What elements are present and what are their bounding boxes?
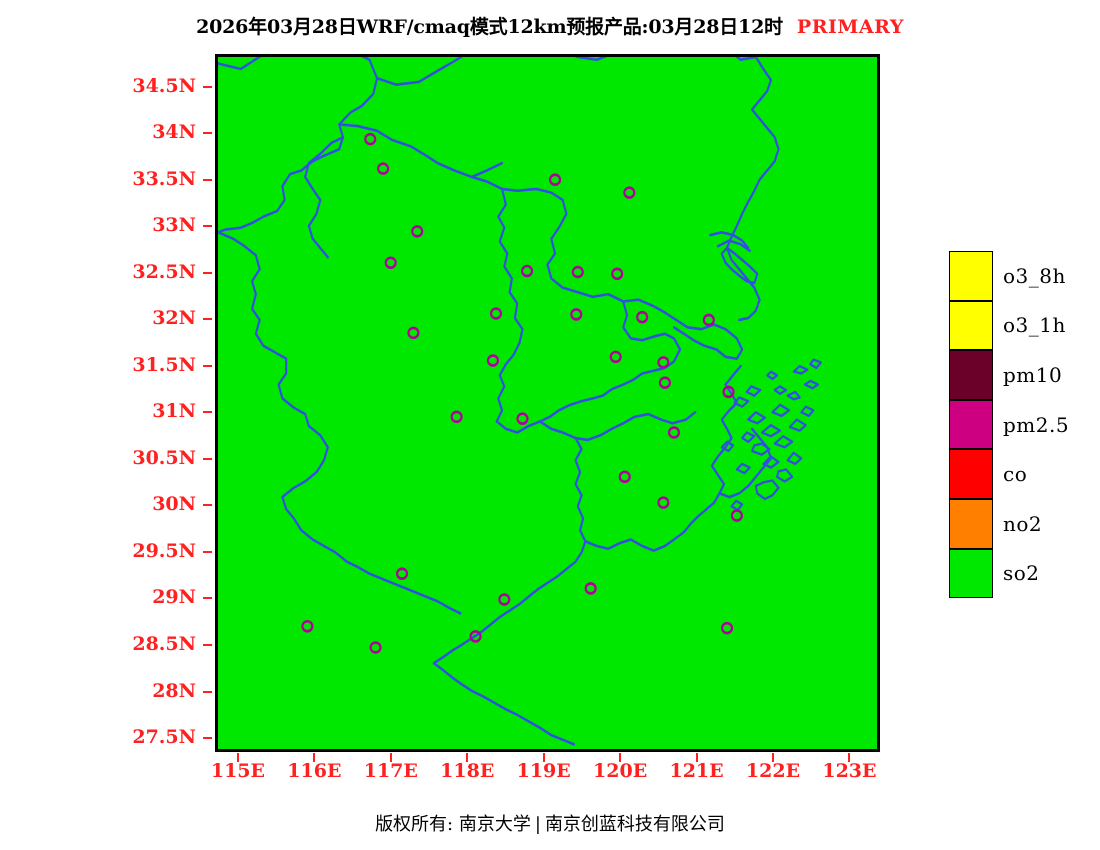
- y-axis-tick-label: 31.5N: [0, 354, 196, 376]
- station-marker[interactable]: [499, 595, 509, 605]
- x-axis-tick: [390, 753, 392, 762]
- x-axis-tick: [772, 753, 774, 762]
- station-marker[interactable]: [412, 226, 422, 236]
- legend-color-swatch: [949, 400, 993, 450]
- station-marker[interactable]: [660, 378, 670, 388]
- legend-item-no2[interactable]: no2: [949, 499, 993, 549]
- legend-item-label: so2: [1003, 561, 1040, 585]
- station-marker[interactable]: [522, 266, 532, 276]
- station-marker[interactable]: [518, 414, 528, 424]
- legend-item-label: o3_8h: [1003, 264, 1066, 288]
- y-axis-tick: [203, 86, 212, 88]
- footer-owner: 版权所有: 南京大学: [375, 814, 531, 835]
- y-axis-tick-label: 27.5N: [0, 726, 196, 748]
- legend-item-label: pm2.5: [1003, 413, 1069, 437]
- pollutant-legend[interactable]: o3_8ho3_1hpm10pm2.5cono2so2: [949, 251, 993, 598]
- legend-color-swatch: [949, 449, 993, 499]
- station-marker[interactable]: [620, 472, 630, 482]
- station-marker[interactable]: [550, 175, 560, 185]
- copyright-footer: 版权所有: 南京大学|南京创蓝科技有限公司: [0, 810, 1100, 836]
- legend-color-swatch: [949, 549, 993, 599]
- station-marker[interactable]: [573, 267, 583, 277]
- legend-item-co[interactable]: co: [949, 449, 993, 499]
- station-marker-group: [302, 134, 741, 652]
- station-marker[interactable]: [491, 309, 501, 319]
- station-marker[interactable]: [669, 428, 679, 438]
- x-axis-tick: [848, 753, 850, 762]
- station-marker[interactable]: [408, 328, 418, 338]
- map-boundaries: [218, 57, 779, 744]
- x-axis-tick-label: 121E: [667, 760, 727, 782]
- title-main-text: 2026年03月28日WRF/cmaq模式12km预报产品:03月28日12时: [196, 16, 783, 38]
- y-axis-tick: [203, 691, 212, 693]
- y-axis-tick: [203, 551, 212, 553]
- station-marker[interactable]: [732, 511, 742, 521]
- offshore-islands: [722, 360, 821, 510]
- y-axis-tick: [203, 365, 212, 367]
- footer-company: 南京创蓝科技有限公司: [545, 814, 725, 835]
- y-axis-tick: [203, 411, 212, 413]
- station-marker[interactable]: [658, 357, 668, 367]
- y-axis-tick: [203, 458, 212, 460]
- station-marker[interactable]: [586, 583, 596, 593]
- y-axis-tick: [203, 272, 212, 274]
- x-axis-tick-label: 118E: [437, 760, 497, 782]
- y-axis-tick: [203, 318, 212, 320]
- legend-item-so2[interactable]: so2: [949, 549, 993, 599]
- y-axis-tick-label: 29N: [0, 586, 196, 608]
- station-marker[interactable]: [624, 188, 634, 198]
- station-marker[interactable]: [571, 309, 581, 319]
- y-axis-tick: [203, 644, 212, 646]
- y-axis-tick-label: 30N: [0, 493, 196, 515]
- y-axis-tick: [203, 737, 212, 739]
- station-marker[interactable]: [378, 164, 388, 174]
- map-plot-area[interactable]: [215, 54, 880, 752]
- x-axis-tick-label: 117E: [361, 760, 421, 782]
- station-marker[interactable]: [637, 312, 647, 322]
- station-marker[interactable]: [611, 352, 621, 362]
- legend-color-swatch: [949, 499, 993, 549]
- y-axis-tick: [203, 597, 212, 599]
- y-axis-tick-label: 29.5N: [0, 540, 196, 562]
- legend-item-pm10[interactable]: pm10: [949, 350, 993, 400]
- station-marker[interactable]: [302, 621, 312, 631]
- x-axis-tick: [313, 753, 315, 762]
- x-axis-tick-label: 120E: [590, 760, 650, 782]
- station-marker[interactable]: [397, 569, 407, 579]
- legend-item-label: no2: [1003, 512, 1042, 536]
- legend-item-label: pm10: [1003, 363, 1062, 387]
- legend-color-swatch: [949, 301, 993, 351]
- y-axis-tick: [203, 225, 212, 227]
- station-marker[interactable]: [488, 356, 498, 366]
- x-axis-tick-label: 122E: [743, 760, 803, 782]
- x-axis-tick: [466, 753, 468, 762]
- station-marker[interactable]: [612, 269, 622, 279]
- map-canvas: [218, 57, 877, 749]
- legend-color-swatch: [949, 251, 993, 301]
- y-axis-tick-label: 31N: [0, 400, 196, 422]
- x-axis-tick: [696, 753, 698, 762]
- legend-item-label: co: [1003, 462, 1027, 486]
- station-marker[interactable]: [452, 412, 462, 422]
- y-axis-tick-label: 32N: [0, 307, 196, 329]
- y-axis-tick-label: 28N: [0, 680, 196, 702]
- station-marker[interactable]: [658, 498, 668, 508]
- legend-item-pm25[interactable]: pm2.5: [949, 400, 993, 450]
- title-primary-badge: PRIMARY: [797, 16, 904, 38]
- x-axis-tick: [543, 753, 545, 762]
- x-axis-tick: [619, 753, 621, 762]
- station-marker[interactable]: [722, 623, 732, 633]
- y-axis-tick-label: 33.5N: [0, 168, 196, 190]
- y-axis-tick-label: 34N: [0, 121, 196, 143]
- y-axis-tick-label: 28.5N: [0, 633, 196, 655]
- station-marker[interactable]: [365, 134, 375, 144]
- y-axis-tick-label: 33N: [0, 214, 196, 236]
- y-axis-tick-label: 30.5N: [0, 447, 196, 469]
- station-marker[interactable]: [704, 315, 714, 325]
- y-axis-tick-label: 34.5N: [0, 75, 196, 97]
- footer-separator: |: [535, 814, 541, 835]
- legend-item-label: o3_1h: [1003, 313, 1066, 337]
- station-marker[interactable]: [386, 258, 396, 268]
- y-axis-tick-label: 32.5N: [0, 261, 196, 283]
- y-axis-tick: [203, 132, 212, 134]
- x-axis-tick-label: 123E: [819, 760, 879, 782]
- y-axis-tick: [203, 179, 212, 181]
- station-marker[interactable]: [371, 643, 381, 653]
- x-axis-tick-label: 115E: [208, 760, 268, 782]
- legend-item-o31h[interactable]: o3_1h: [949, 301, 993, 351]
- x-axis-tick: [237, 753, 239, 762]
- legend-item-o38h[interactable]: o3_8h: [949, 251, 993, 301]
- chart-title: 2026年03月28日WRF/cmaq模式12km预报产品:03月28日12时P…: [0, 12, 1100, 39]
- x-axis-tick-label: 116E: [284, 760, 344, 782]
- x-axis-tick-label: 119E: [514, 760, 574, 782]
- legend-color-swatch: [949, 350, 993, 400]
- y-axis-tick: [203, 504, 212, 506]
